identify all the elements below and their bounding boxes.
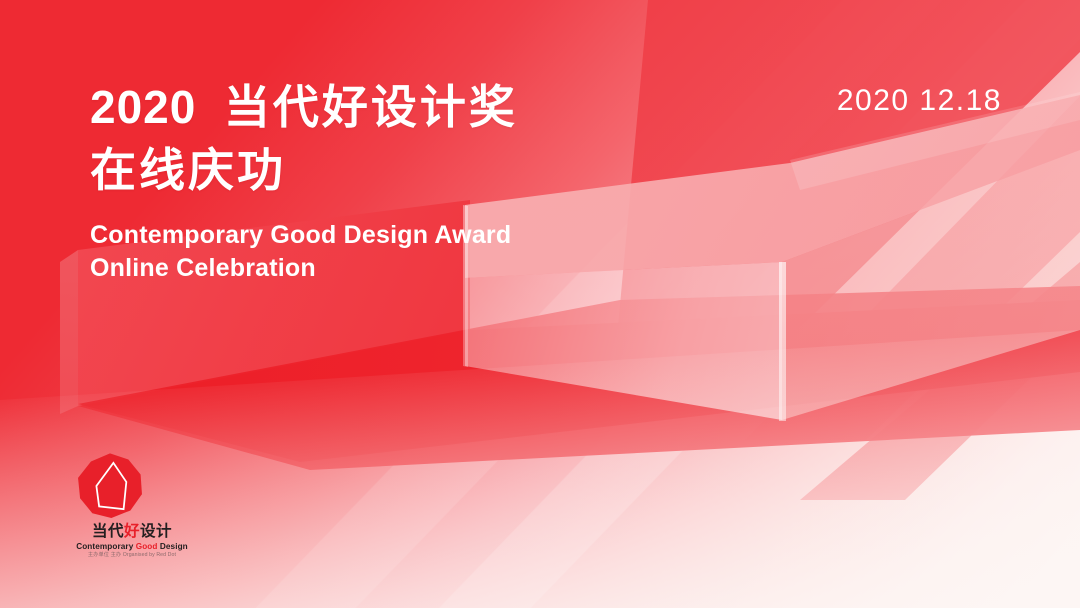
logo-english-name: Contemporary Good Design (62, 542, 202, 551)
subtitle-line-1: Contemporary Good Design Award (90, 219, 518, 252)
poster-canvas: 2020 当代好设计奖 在线庆功 Contemporary Good Desig… (0, 0, 1080, 608)
title-cn-second: 在线庆功 (90, 144, 286, 196)
logo-lockup: 当代好设计 Contemporary Good Design 主办单位 主办 O… (62, 452, 202, 558)
subtitle-line-2: Online Celebration (90, 252, 518, 285)
title-cn-main: 当代好设计奖 (224, 81, 518, 133)
title-block: 2020 当代好设计奖 在线庆功 Contemporary Good Desig… (90, 76, 518, 285)
logo-organiser-line: 主办单位 主办 Organised by Red Dot (62, 553, 202, 559)
logo-cn-part1: 当代 (92, 523, 124, 540)
logo-en-highlight: Good (136, 542, 158, 551)
cgd-nonagon-icon (76, 452, 144, 520)
logo-en-part1: Contemporary (76, 542, 136, 551)
title-line-1: 2020 当代好设计奖 (90, 76, 518, 139)
title-year: 2020 (90, 81, 196, 133)
poster-content: 2020 当代好设计奖 在线庆功 Contemporary Good Desig… (0, 0, 1080, 608)
logo-chinese-name: 当代好设计 (62, 524, 202, 540)
logo-en-part2: Design (158, 542, 188, 551)
logo-cn-part2: 设计 (140, 523, 172, 540)
title-line-2: 在线庆功 (90, 139, 518, 202)
logo-cn-highlight: 好 (124, 523, 140, 540)
subtitle-block: Contemporary Good Design Award Online Ce… (90, 219, 518, 285)
event-date: 2020 12.18 (837, 84, 1002, 118)
